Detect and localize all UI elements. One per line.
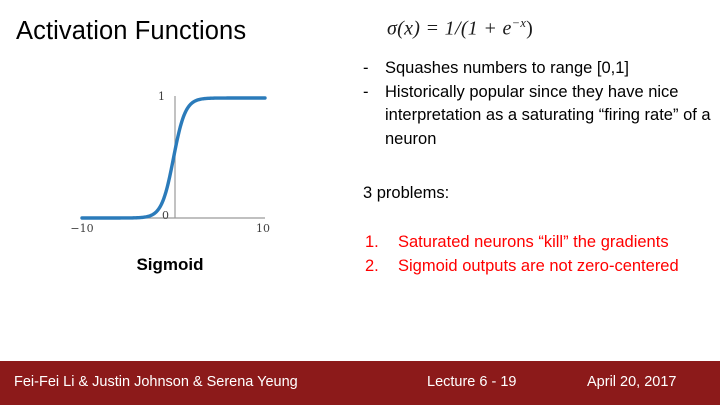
list-item: 2. Sigmoid outputs are not zero-centered [365,255,695,279]
dash-bullet-icon: - [363,57,385,81]
bullet-list: - Squashes numbers to range [0,1] - Hist… [363,57,715,151]
sigmoid-formula: σ(x) = 1/(1 + e−x) [387,16,533,41]
problems-heading: 3 problems: [363,182,449,206]
y-tick-label-0: 0 [162,209,169,222]
formula-main: σ(x) = 1/(1 + e [387,18,512,40]
list-item: - Squashes numbers to range [0,1] [363,57,715,81]
list-item: - Historically popular since they have n… [363,81,715,152]
footer-authors: Fei-Fei Li & Justin Johnson & Serena Yeu… [14,374,298,390]
footer-lecture: Lecture 6 - 19 [427,374,516,390]
sigmoid-chart: 1 0 −10 10 [60,78,280,238]
problem-text: Saturated neurons “kill” the gradients [398,231,695,255]
formula-exponent: −x [512,16,526,30]
footer-date: April 20, 2017 [587,374,676,390]
dash-bullet-icon: - [363,81,385,105]
sigmoid-figure: 1 0 −10 10 [60,78,280,238]
problems-list: 1. Saturated neurons “kill” the gradient… [365,231,695,278]
page-title: Activation Functions [16,17,246,46]
figure-caption: Sigmoid [60,255,280,275]
sigmoid-curve [82,98,265,218]
list-item: 1. Saturated neurons “kill” the gradient… [365,231,695,255]
x-tick-label-min: −10 [70,222,93,235]
list-number: 2. [365,255,398,279]
slide-canvas: Activation Functions σ(x) = 1/(1 + e−x) … [0,0,720,405]
bullet-text: Squashes numbers to range [0,1] [385,57,715,81]
footer-bar: Fei-Fei Li & Justin Johnson & Serena Yeu… [0,361,720,405]
formula-tail: ) [526,18,533,40]
problem-text: Sigmoid outputs are not zero-centered [398,255,695,279]
y-tick-label-1: 1 [158,90,165,103]
x-tick-label-max: 10 [256,222,270,235]
list-number: 1. [365,231,398,255]
bullet-text: Historically popular since they have nic… [385,81,715,152]
